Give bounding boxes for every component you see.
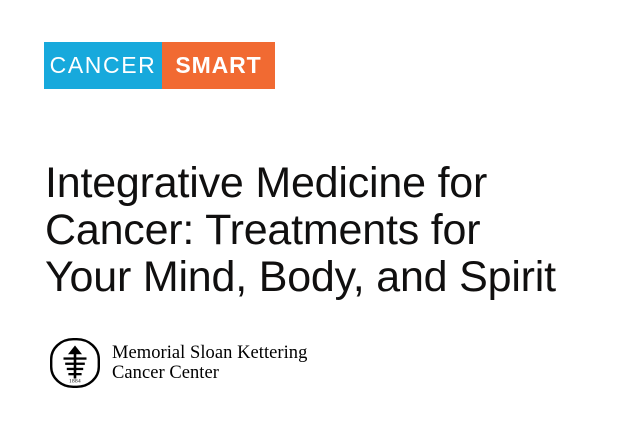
brand-block-orange: SMART xyxy=(162,42,275,89)
cancer-smart-logo: CANCER SMART xyxy=(44,42,275,89)
title-card: CANCER SMART Integrative Medicine for Ca… xyxy=(0,0,640,427)
page-title: Integrative Medicine for Cancer: Treatme… xyxy=(45,160,615,301)
msk-logo: 1884 Memorial Sloan Kettering Cancer Cen… xyxy=(49,337,307,389)
msk-crest-year: 1884 xyxy=(69,379,81,385)
page-title-line-3: Your Mind, Body, and Spirit xyxy=(45,254,615,301)
msk-crest-icon: 1884 xyxy=(49,337,101,389)
brand-word-cancer: CANCER xyxy=(50,54,159,77)
page-title-line-1: Integrative Medicine for xyxy=(45,160,615,207)
msk-wordmark: Memorial Sloan Kettering Cancer Center xyxy=(112,343,307,383)
msk-wordmark-line-1: Memorial Sloan Kettering xyxy=(112,343,307,363)
brand-block-blue: CANCER xyxy=(44,42,162,89)
brand-word-smart: SMART xyxy=(175,54,261,77)
msk-wordmark-line-2: Cancer Center xyxy=(112,363,307,383)
page-title-line-2: Cancer: Treatments for xyxy=(45,207,615,254)
